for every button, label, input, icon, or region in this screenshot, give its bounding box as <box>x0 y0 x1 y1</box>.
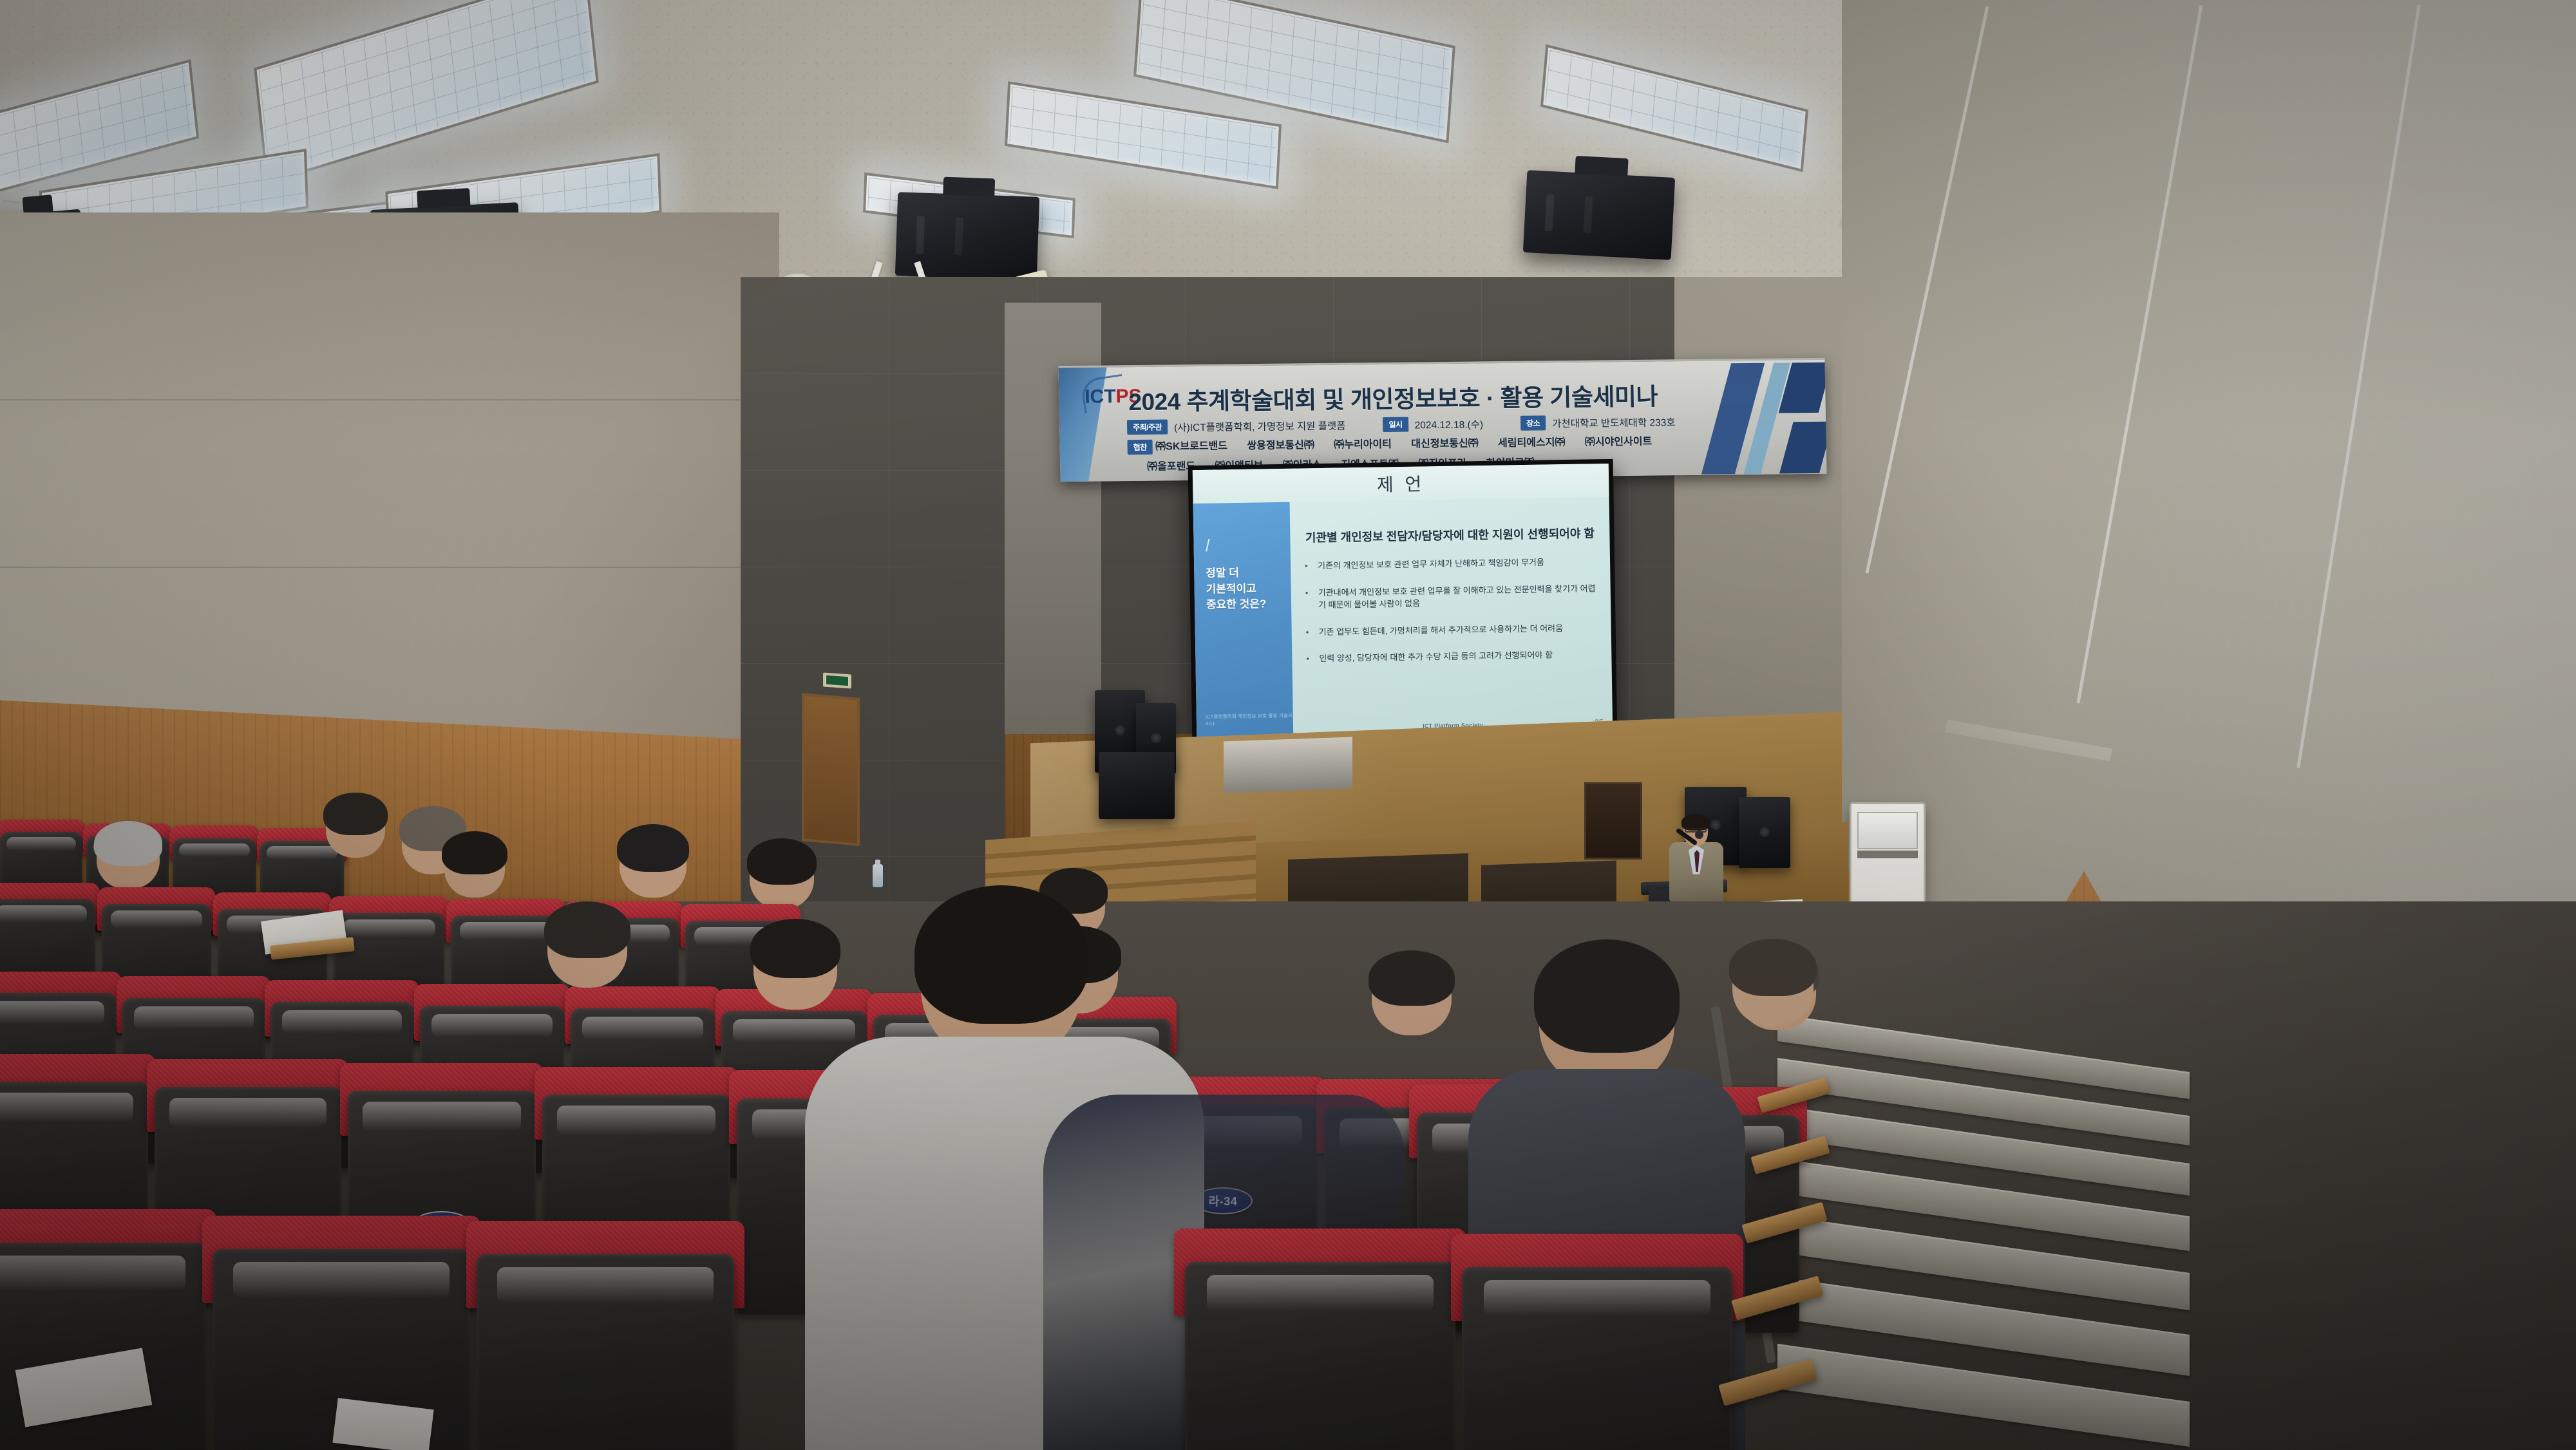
banner-place-tag: 장소 <box>1520 415 1546 430</box>
emergency-exit-door[interactable] <box>802 693 860 846</box>
exit-sign-icon <box>823 672 851 688</box>
seat-back <box>477 1254 734 1450</box>
slide-bullet: • 기관내에서 개인정보 보호 관련 업무를 잘 이해하고 있는 전문인력을 찾… <box>1305 582 1597 612</box>
banner-host-tag: 주최/주관 <box>1127 419 1168 435</box>
ceiling-speaker <box>1523 170 1675 260</box>
attendee <box>750 845 814 909</box>
attendee-hair <box>750 919 840 978</box>
ac-top-grille <box>1857 812 1918 849</box>
water-bottle <box>873 864 883 887</box>
banner-date-value: 2024.12.18.(수) <box>1414 417 1483 431</box>
subwoofer <box>1099 752 1175 819</box>
foreground-attendee-right <box>1539 953 1674 1088</box>
sponsor-item: ㈜시야인사이트 <box>1585 433 1653 449</box>
sponsor-item: 세림티에스지㈜ <box>1498 433 1566 449</box>
bullet-marker-icon: • <box>1306 626 1311 639</box>
sponsor-item: 대신정보통신㈜ <box>1411 434 1479 450</box>
sponsor-item: ㈜누리아이티 <box>1334 435 1392 451</box>
attendee <box>97 827 160 889</box>
slide-slash-mark: / <box>1205 531 1291 556</box>
attendee <box>753 927 837 1010</box>
attendee-hair <box>914 885 1088 1024</box>
bullet-marker-icon: • <box>1306 652 1311 665</box>
microphone-head-icon <box>1695 831 1703 839</box>
seat-back <box>1185 1262 1455 1450</box>
auditorium-photo: ICTPS 2024 추계학술대회 및 개인정보보호 · 활용 기술세미나 주최… <box>0 0 2576 1450</box>
attendee <box>444 837 505 898</box>
slide-sidebar-footer: ICT플랫폼학회 개인정보 보호 활용 기술세미나 <box>1206 712 1293 728</box>
speaker-cone-icon <box>1151 733 1161 743</box>
attendee <box>547 909 627 988</box>
attendee-hair <box>617 824 689 872</box>
ictps-logo: ICTPS <box>1084 381 1135 413</box>
slide-bullet: • 기존 업무도 힘든데, 가명처리를 해서 추가적으로 사용하기는 더 어려움 <box>1306 621 1597 639</box>
left-wall-seam <box>0 567 773 568</box>
attendee-hair <box>1368 950 1455 1006</box>
attendee-hair <box>747 838 817 885</box>
presentation-slide: 제 언 / 정말 더 기본적이고 중요한 것은? ICT플랫폼학회 개인정보 보… <box>1193 464 1613 739</box>
slide-body: / 정말 더 기본적이고 중요한 것은? ICT플랫폼학회 개인정보 보호 활용… <box>1193 497 1613 739</box>
speaker-cone-icon <box>1115 725 1125 735</box>
attendee-hair <box>1729 939 1817 996</box>
attendee <box>620 831 687 898</box>
attendee <box>1732 946 1814 1026</box>
banner-place-value: 가천대학교 반도체대학 233호 <box>1552 415 1676 430</box>
banner-title: 2024 추계학술대회 및 개인정보보호 · 활용 기술세미나 <box>1128 377 1703 417</box>
slide-sidebar: / 정말 더 기본적이고 중요한 것은? ICT플랫폼학회 개인정보 보호 활용… <box>1193 502 1294 739</box>
sidebar-line-3: 중요한 것은? <box>1206 596 1291 614</box>
sponsor-item: 쌍용정보통신㈜ <box>1247 436 1314 452</box>
sidebar-line-2: 기본적이고 <box>1206 580 1291 598</box>
attendee-hair <box>1534 939 1680 1053</box>
slide-headline: 기관별 개인정보 전담자/담당자에 대한 지원이 선행되어야 함 <box>1304 524 1595 545</box>
left-wall-seam <box>0 399 773 400</box>
banner-host-value: (사)ICT플랫폼학회, 가명정보 지원 플랫폼 <box>1174 418 1346 434</box>
speaker-cone-icon <box>1759 827 1770 837</box>
slide-sidebar-question: 정말 더 기본적이고 중요한 것은? <box>1206 565 1291 614</box>
slide-bullet: • 인력 양성, 담당자에 대한 추가 수당 지급 등의 고려가 선행되어야 함 <box>1306 648 1597 665</box>
banner-meta-line: 주최/주관 (사)ICT플랫폼학회, 가명정보 지원 플랫폼 일시 2024.1… <box>1127 414 1697 435</box>
banner-date-tag: 일시 <box>1383 417 1408 432</box>
sidebar-line-1: 정말 더 <box>1206 565 1291 582</box>
seat-back <box>1462 1267 1732 1450</box>
attendee-hair <box>442 831 507 875</box>
projection-screen: 제 언 / 정말 더 기본적이고 중요한 것은? ICT플랫폼학회 개인정보 보… <box>1188 459 1618 744</box>
ac-band <box>1857 851 1918 858</box>
attendee-hair <box>94 821 162 865</box>
slide-bullet: • 기존의 개인정보 보호 관련 업무 자체가 난해하고 책임감이 무거움 <box>1305 555 1596 572</box>
bullet-marker-icon: • <box>1305 587 1311 612</box>
bullet-text: 기존의 개인정보 보호 관련 업무 자체가 난해하고 책임감이 무거움 <box>1318 556 1544 572</box>
seat[interactable] <box>477 1254 734 1450</box>
seat[interactable] <box>1462 1267 1732 1450</box>
seat[interactable] <box>1185 1262 1455 1450</box>
attendee-hair <box>544 901 630 958</box>
bullet-marker-icon: • <box>1305 560 1310 572</box>
bullet-text: 기존 업무도 힘든데, 가명처리를 해서 추가적으로 사용하기는 더 어려움 <box>1319 622 1564 638</box>
attendee <box>326 798 385 858</box>
slide-content: 기관별 개인정보 전담자/담당자에 대한 지원이 선행되어야 함 • 기존의 개… <box>1290 497 1613 738</box>
attendee <box>1372 958 1452 1035</box>
attendee-hair <box>323 793 387 835</box>
slide-title: 제 언 <box>1377 470 1425 496</box>
presenter <box>1669 816 1723 900</box>
stage-side-door <box>1584 782 1642 860</box>
aisle-stairs <box>1777 1043 2190 1450</box>
bullet-text: 기관내에서 개인정보 보호 관련 업무를 잘 이해하고 있는 전문인력을 찾기가… <box>1318 582 1597 612</box>
sponsor-item: ㈜SK브로드밴드 <box>1155 437 1227 453</box>
bullet-text: 인력 양성, 담당자에 대한 추가 수당 지급 등의 고려가 선행되어야 함 <box>1319 648 1553 664</box>
floor-speaker <box>1739 797 1790 868</box>
stage-screen-base <box>1224 737 1352 793</box>
banner-sponsor-tag: 협찬 <box>1127 440 1152 455</box>
